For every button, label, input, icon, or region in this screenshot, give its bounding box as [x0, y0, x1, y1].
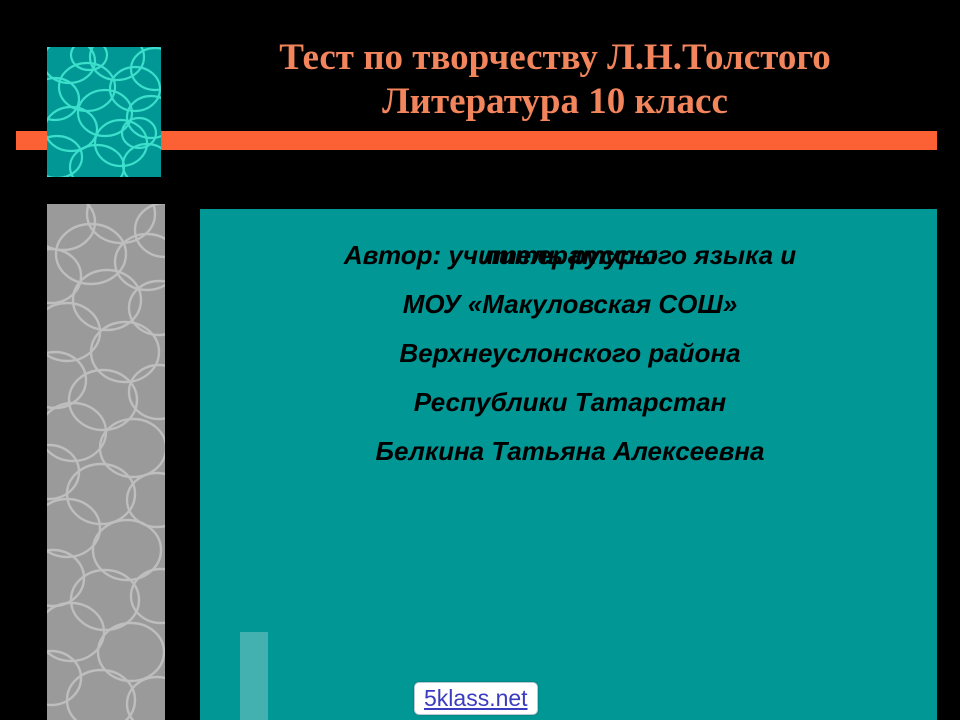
source-watermark[interactable]: 5klass.net: [414, 682, 538, 715]
page-title: Тест по творчеству Л.Н.Толстого Литерату…: [170, 36, 940, 124]
title-line-2: Литература 10 класс: [170, 80, 940, 124]
content-panel: Автор: учитель русского языка и литерату…: [200, 209, 937, 720]
accent-vertical-bar: [240, 632, 268, 720]
circles-pattern-gray-icon: [47, 204, 165, 720]
credit-line-3: МОУ «Макуловская СОШ»: [260, 286, 880, 322]
credit-line-6: Белкина Татьяна Алексеевна: [260, 433, 880, 469]
credit-line-4: Верхнеуслонского района: [260, 335, 880, 371]
author-credits-block: Автор: учитель русского языка и литерату…: [260, 237, 880, 482]
circles-pattern-teal-icon: [47, 47, 161, 177]
presentation-slide: Автор: учитель русского языка и литерату…: [0, 0, 960, 720]
title-line-1: Тест по творчеству Л.Н.Толстого: [170, 36, 940, 80]
watermark-link-label[interactable]: 5klass.net: [424, 685, 528, 711]
credit-line-5: Республики Татарстан: [260, 384, 880, 420]
